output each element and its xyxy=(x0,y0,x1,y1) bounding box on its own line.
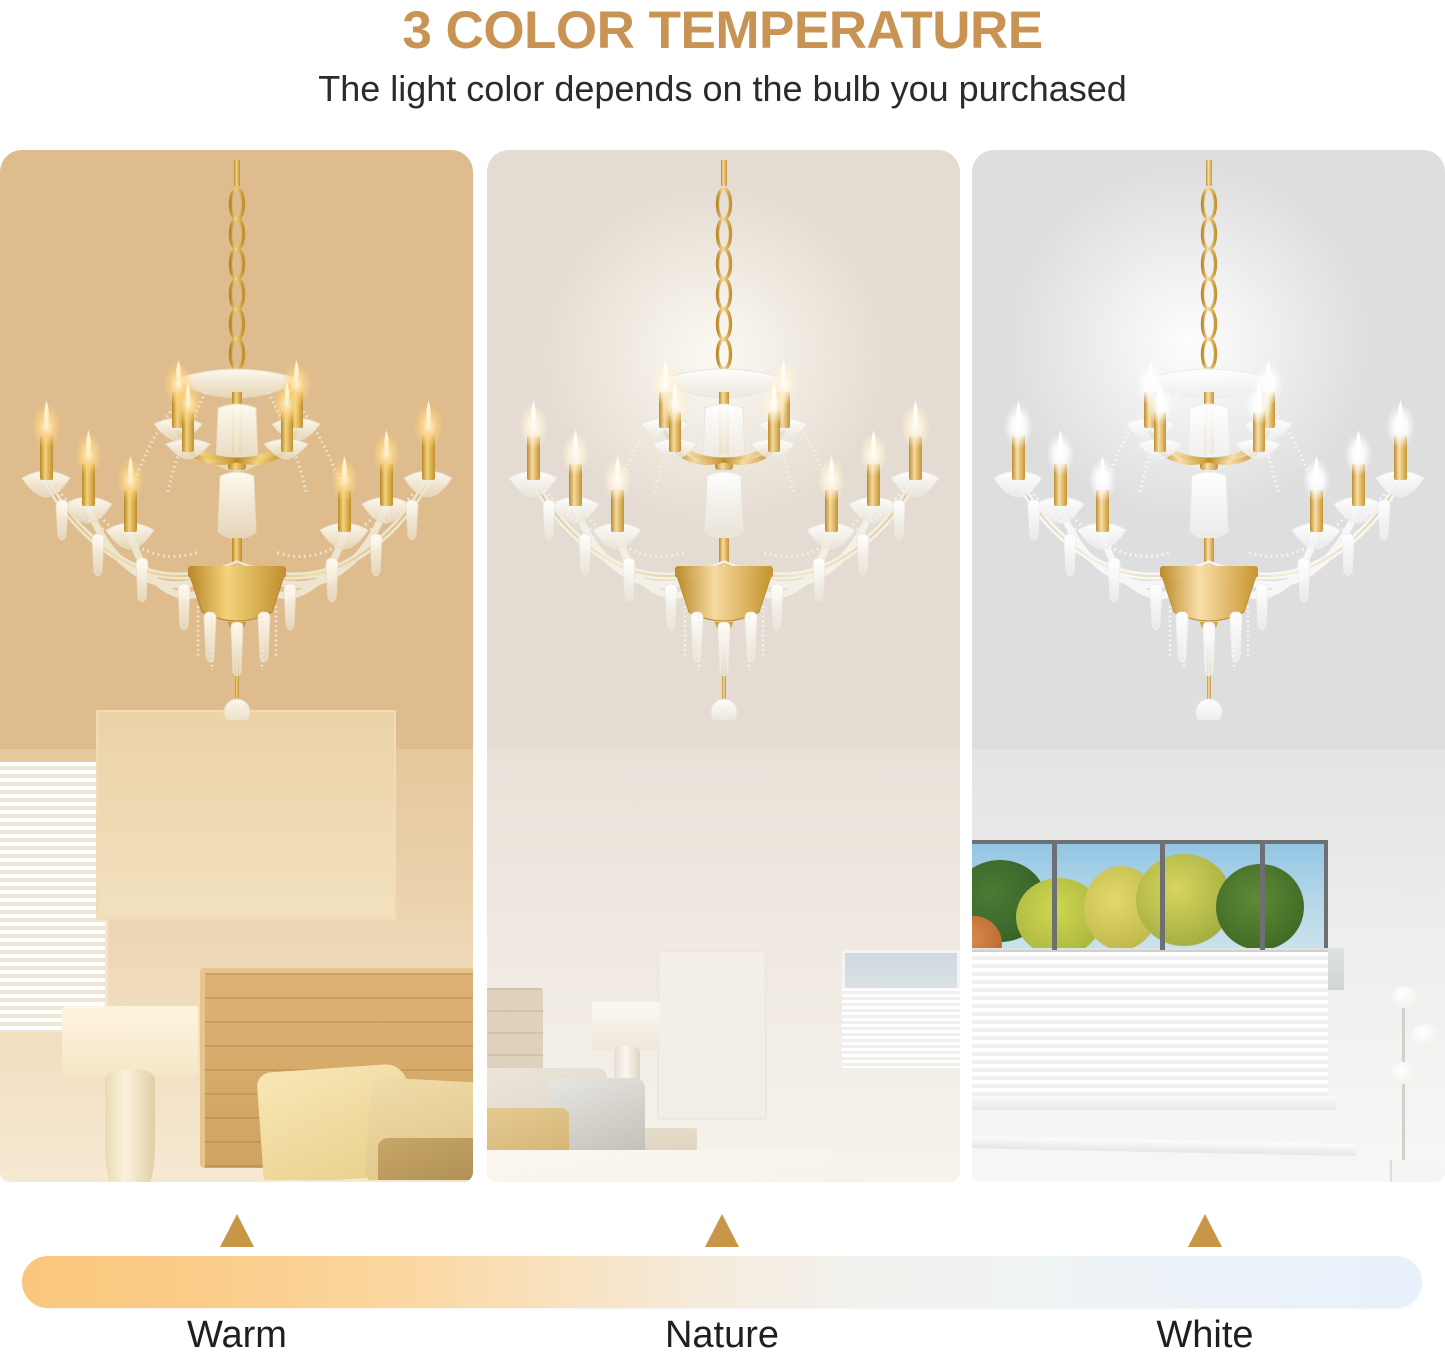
window-blind xyxy=(842,988,960,1068)
chandelier-warm xyxy=(2,160,472,720)
candle-socket xyxy=(404,400,452,497)
temperature-gradient-bar xyxy=(22,1256,1422,1308)
candle-socket xyxy=(320,456,368,549)
triangle-up-icon-nature xyxy=(705,1214,739,1247)
window-blind xyxy=(0,762,108,1032)
candle-socket xyxy=(362,430,410,523)
candle-socket xyxy=(1376,400,1424,497)
table-lamp-shade xyxy=(62,1006,198,1076)
orchid-bloom xyxy=(1392,986,1418,1008)
orchid-bloom xyxy=(1412,1024,1438,1046)
candle-socket xyxy=(593,456,641,549)
panel-warm xyxy=(0,150,473,1182)
panel-white xyxy=(972,150,1445,1182)
chandelier-nature xyxy=(489,160,959,720)
table-lamp-shade xyxy=(592,1002,660,1050)
candle-socket xyxy=(1078,456,1126,549)
page-title: 3 COLOR TEMPERATURE xyxy=(0,2,1445,60)
candle-socket xyxy=(994,400,1042,497)
candle-socket xyxy=(1334,430,1382,523)
table-lamp-base xyxy=(105,1070,155,1182)
scale-label-nature: Nature xyxy=(602,1314,842,1354)
triangle-up-icon-white xyxy=(1188,1214,1222,1247)
window-sill xyxy=(972,1096,1336,1110)
color-temperature-scale: Warm Nature White xyxy=(0,1196,1445,1354)
crystal-chandelier-icon xyxy=(2,160,472,720)
comparison-panels xyxy=(0,150,1445,1182)
crystal-chandelier-icon xyxy=(489,160,959,720)
wall-molding-panel xyxy=(96,710,396,920)
candle-socket xyxy=(1036,430,1084,523)
candle-socket xyxy=(891,400,939,497)
product-infographic: 3 COLOR TEMPERATURE The light color depe… xyxy=(0,0,1445,1354)
candle-socket xyxy=(1292,456,1340,549)
orchid-bloom xyxy=(1390,1062,1416,1084)
crystal-chandelier-icon xyxy=(974,160,1444,720)
scale-label-white: White xyxy=(1085,1314,1325,1354)
chandelier-white xyxy=(974,160,1444,720)
window-blind xyxy=(972,950,1328,1100)
triangle-up-icon-warm xyxy=(220,1214,254,1247)
candle-socket xyxy=(22,400,70,497)
bed xyxy=(250,1180,473,1182)
candle-socket xyxy=(551,430,599,523)
pillow xyxy=(378,1138,473,1182)
candle-socket xyxy=(64,430,112,523)
candle-socket xyxy=(509,400,557,497)
candle-socket xyxy=(807,456,855,549)
panel-nature xyxy=(487,150,960,1182)
candle-socket xyxy=(849,430,897,523)
candle-socket xyxy=(106,456,154,549)
page-subtitle: The light color depends on the bulb you … xyxy=(0,68,1445,110)
scale-label-warm: Warm xyxy=(117,1314,357,1354)
wall-molding-panel xyxy=(657,950,767,1120)
header: 3 COLOR TEMPERATURE The light color depe… xyxy=(0,0,1445,128)
cabinet xyxy=(1390,1160,1445,1182)
bed xyxy=(487,1150,857,1182)
